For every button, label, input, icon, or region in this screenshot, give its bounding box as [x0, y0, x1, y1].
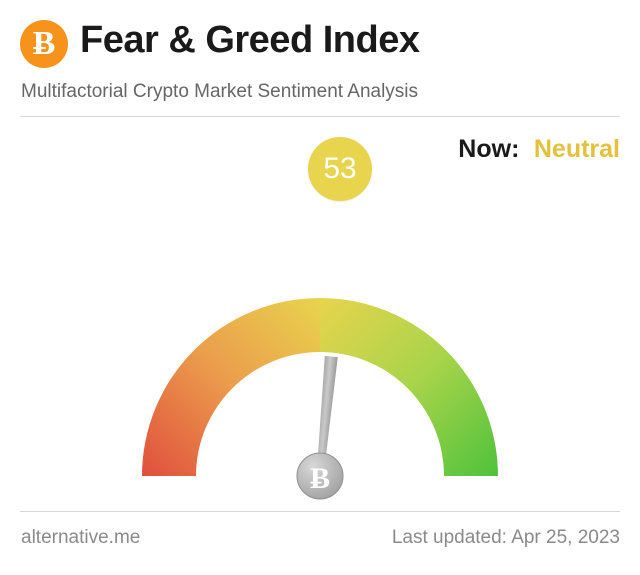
site-name: alternative.me: [21, 527, 140, 549]
gauge-needle-hub: Ƀ: [297, 453, 343, 499]
footer-divider: [20, 511, 620, 512]
header: Ƀ Fear & Greed Index Multifactorial Cryp…: [0, 0, 640, 116]
bitcoin-icon: Ƀ: [20, 20, 68, 68]
gauge-chart: 53: [0, 128, 640, 500]
page-subtitle: Multifactorial Crypto Market Sentiment A…: [21, 81, 418, 103]
header-divider: [20, 116, 620, 117]
gauge-svg: Ƀ: [0, 128, 640, 500]
last-updated: Last updated: Apr 25, 2023: [392, 527, 620, 549]
page-title: Fear & Greed Index: [80, 19, 419, 62]
fear-greed-index-widget: Ƀ Fear & Greed Index Multifactorial Cryp…: [0, 0, 640, 575]
svg-text:Ƀ: Ƀ: [310, 462, 330, 495]
